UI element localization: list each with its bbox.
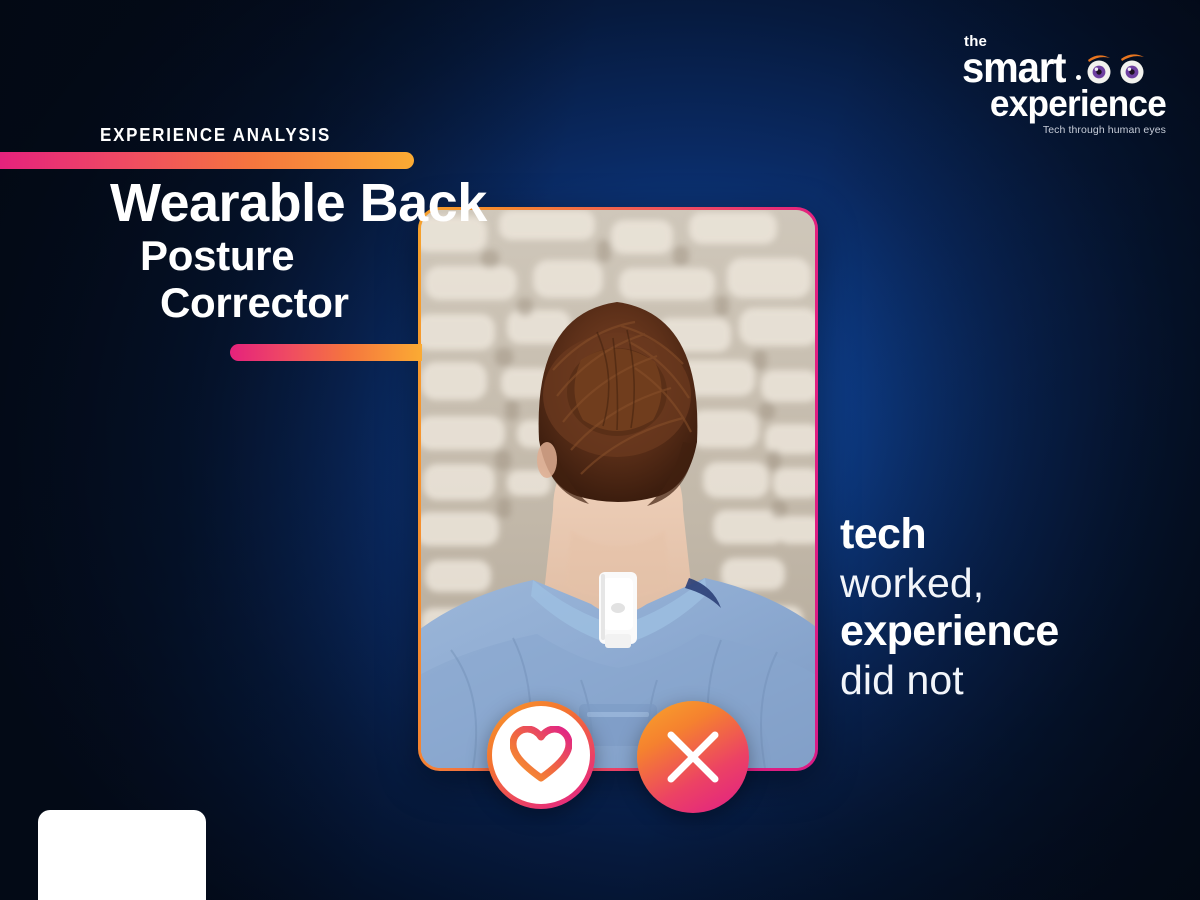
pullquote-line-3: experience xyxy=(840,607,1170,657)
brand-name-primary: smart xyxy=(962,50,1065,87)
bottom-placeholder-card xyxy=(38,810,206,900)
pullquote-line-2: worked, xyxy=(840,560,1170,608)
heart-badge[interactable] xyxy=(487,701,595,809)
brand-dot-decoration xyxy=(1076,75,1081,80)
eyeball-icon xyxy=(1117,51,1147,85)
accent-bar-bottom xyxy=(230,344,422,361)
section-eyebrow-label: EXPERIENCE ANALYSIS xyxy=(100,125,331,146)
brand-eyes-group xyxy=(1084,51,1147,85)
wearable-device xyxy=(599,572,637,648)
heart-icon xyxy=(510,726,572,784)
brand-tagline: Tech through human eyes xyxy=(956,124,1166,136)
poster-canvas: the smart exp xyxy=(0,0,1200,900)
pullquote-line-4: did not xyxy=(840,657,1170,705)
page-title-line-3: Corrector xyxy=(0,279,500,326)
x-icon xyxy=(662,726,724,788)
page-title-line-1: Wearable Back xyxy=(0,176,500,232)
pullquote: tech worked, experience did not xyxy=(840,510,1170,705)
page-title-line-2: Posture xyxy=(0,232,500,279)
heart-badge-inner xyxy=(492,706,590,804)
accent-bar-top xyxy=(0,152,414,169)
cross-badge[interactable] xyxy=(637,701,749,813)
page-title: Wearable Back Posture Corrector xyxy=(0,176,500,326)
pullquote-line-1: tech xyxy=(840,510,1170,560)
brand-primary-row: smart xyxy=(962,50,1166,87)
brand-logo: the smart exp xyxy=(956,34,1166,136)
eyeball-icon xyxy=(1084,51,1114,85)
brand-name-secondary: experience xyxy=(967,87,1167,121)
